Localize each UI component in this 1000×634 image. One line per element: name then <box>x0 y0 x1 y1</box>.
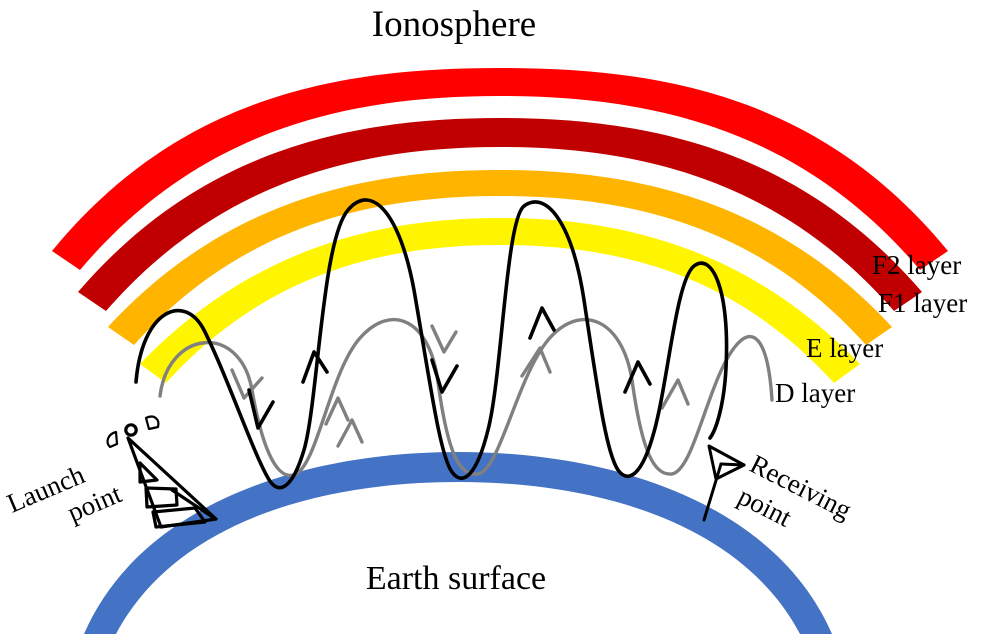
gray-arrowhead-3 <box>432 326 456 352</box>
black-arrowhead-3 <box>530 308 554 338</box>
layer-label-e: E layer <box>806 333 883 363</box>
layer-label-f1: F1 layer <box>878 288 967 318</box>
gray-arrowhead-4 <box>338 420 362 446</box>
gray-arrowhead-5 <box>522 348 550 376</box>
gray-arrowhead-6 <box>662 380 688 408</box>
radiation-arc-right <box>146 417 158 429</box>
diagram-canvas: Ionosphere F2 layer F1 layer E layer D l… <box>0 0 1000 634</box>
transmitter-tower <box>108 417 216 527</box>
receiver-dipole-tail <box>721 464 744 465</box>
tower-antenna-node <box>126 425 136 435</box>
layer-label-d: D layer <box>775 378 855 408</box>
page-title: Ionosphere <box>372 4 536 45</box>
launch-point-label: Launch point <box>3 449 127 548</box>
radiation-arc-left <box>108 432 117 447</box>
ionosphere-propagation-diagram: Ionosphere F2 layer F1 layer E layer D l… <box>0 0 1000 634</box>
layer-label-f2: F2 layer <box>872 250 961 280</box>
earth-surface-label: Earth surface <box>366 560 546 597</box>
receiver-dipole <box>709 446 744 479</box>
